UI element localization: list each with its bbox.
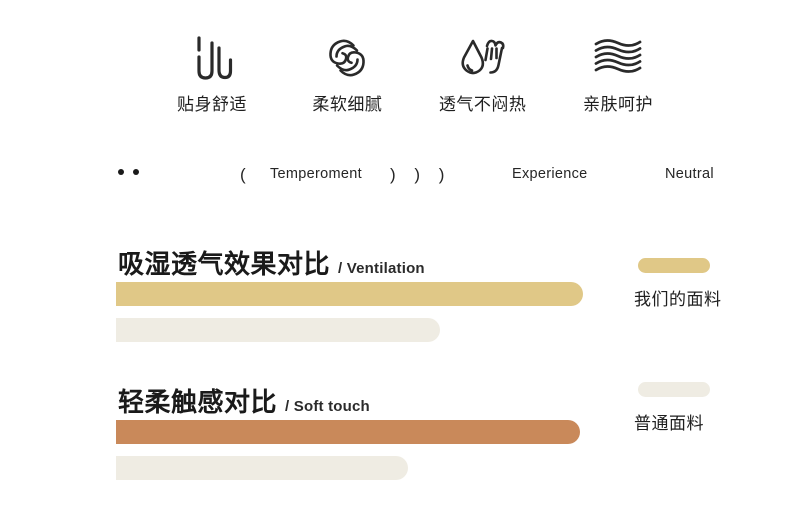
- water-droplet-evaporation-icon: [457, 32, 509, 84]
- double-spiral-icon: [323, 32, 371, 84]
- feature-list: 贴身舒适 柔软细腻 透气不闷热: [150, 32, 680, 115]
- fiber-strands-icon: [191, 32, 233, 84]
- feature-label: 柔软细腻: [312, 90, 382, 115]
- bar-our-fabric: [116, 282, 583, 306]
- dots-icon: [118, 169, 139, 175]
- bar-ordinary-fabric: [116, 318, 440, 342]
- keyword-paren-left: (: [240, 165, 246, 185]
- section-title-en: / Ventilation: [338, 260, 425, 277]
- feature-item-skin-friendly: 亲肤呵护: [556, 32, 680, 115]
- section-heading: 轻柔触感对比 / Soft touch: [118, 382, 370, 419]
- legend-item-our-fabric: 我们的面料: [634, 258, 784, 310]
- section-title-en: / Soft touch: [285, 398, 370, 415]
- keyword-temperament: Temperoment: [270, 166, 362, 182]
- feature-label: 亲肤呵护: [583, 90, 653, 115]
- bar-ordinary-fabric: [116, 456, 408, 480]
- wavy-fabric-lines-icon: [593, 32, 643, 84]
- section-title-cn: 吸湿透气效果对比: [118, 244, 330, 281]
- feature-item-softness: 柔软细腻: [285, 32, 409, 115]
- feature-label: 透气不闷热: [439, 90, 527, 115]
- keyword-paren-right: ) ) ): [390, 165, 451, 185]
- section-heading: 吸湿透气效果对比 / Ventilation: [118, 244, 425, 281]
- legend-label: 我们的面料: [634, 285, 784, 310]
- legend-swatch: [638, 258, 710, 273]
- keyword-neutral: Neutral: [665, 166, 714, 182]
- keyword-decor-row: ( Temperoment ) ) ) Experience Neutral: [0, 162, 790, 190]
- feature-label: 贴身舒适: [177, 90, 247, 115]
- section-title-cn: 轻柔触感对比: [118, 382, 277, 419]
- feature-item-breathability: 透气不闷热: [421, 32, 545, 115]
- bar-our-fabric: [116, 420, 580, 444]
- legend-item-ordinary-fabric: 普通面料: [634, 382, 784, 434]
- keyword-experience: Experience: [512, 166, 588, 182]
- legend-label: 普通面料: [634, 409, 784, 434]
- feature-item-comfort: 贴身舒适: [150, 32, 274, 115]
- legend-swatch: [638, 382, 710, 397]
